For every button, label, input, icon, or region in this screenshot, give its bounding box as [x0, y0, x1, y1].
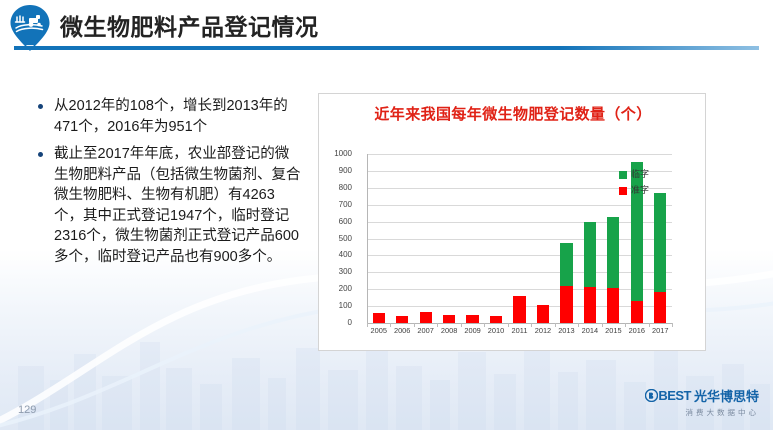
legend-item: 临字 [619, 170, 649, 179]
x-axis-tick: 2012 [531, 327, 554, 335]
x-axis-tick-mark [578, 323, 579, 327]
bar-column [584, 154, 596, 323]
x-axis-tick: 2013 [555, 327, 578, 335]
bar-segment-zhunzi [396, 316, 408, 323]
bar-segment-linzi [584, 222, 596, 287]
bar-column [607, 154, 619, 323]
bar-segment-zhunzi [584, 287, 596, 323]
chart-legend: 临字准字 [619, 170, 649, 202]
bar-segment-zhunzi [560, 286, 572, 323]
legend-swatch [619, 187, 627, 195]
header-rule-fade [560, 46, 759, 50]
bar-segment-zhunzi [654, 292, 666, 323]
x-axis-tick: 2010 [484, 327, 507, 335]
bar-column [490, 154, 502, 323]
bar-column [466, 154, 478, 323]
x-axis-tick: 2015 [602, 327, 625, 335]
bar-segment-zhunzi [490, 316, 502, 323]
bar-column [396, 154, 408, 323]
bar-column [537, 154, 549, 323]
x-axis-tick: 2017 [649, 327, 672, 335]
brand-name: 光华博思特 [694, 386, 759, 405]
x-axis-tick-mark [367, 323, 368, 327]
bar-segment-linzi [607, 217, 619, 288]
x-axis-tick: 2006 [390, 327, 413, 335]
bar-segment-zhunzi [373, 313, 385, 323]
y-axis-tick: 1000 [308, 150, 352, 158]
brand-mark-text: BEST [658, 388, 691, 403]
bar-column [513, 154, 525, 323]
bar-column [373, 154, 385, 323]
y-axis-tick: 200 [308, 285, 352, 293]
farm-pin-logo-icon [8, 4, 52, 52]
y-axis-tick: 800 [308, 184, 352, 192]
bullet-text: 截止至2017年年底，农业部登记的微生物肥料产品（包括微生物菌剂、复合微生物肥料… [54, 146, 301, 265]
page-number: 129 [18, 404, 36, 416]
page-title: 微生物肥料产品登记情况 [60, 8, 319, 42]
slide-canvas: 微生物肥料产品登记情况 从2012年的108个，增长到2013年的471个，20… [0, 0, 773, 430]
bar-column [443, 154, 455, 323]
bar-segment-linzi [560, 243, 572, 285]
y-axis-tick: 0 [308, 319, 352, 327]
brand-logo: BEST 光华博思特 消费大数据中心 [645, 386, 759, 418]
y-axis-tick: 700 [308, 201, 352, 209]
x-axis-tick-mark [461, 323, 462, 327]
x-axis-tick: 2011 [508, 327, 531, 335]
bar-segment-zhunzi [466, 315, 478, 323]
bar-column [560, 154, 572, 323]
y-axis-tick: 900 [308, 167, 352, 175]
y-axis-tick: 500 [308, 235, 352, 243]
bar-segment-zhunzi [537, 305, 549, 323]
y-axis-tick: 300 [308, 268, 352, 276]
x-axis-tick-mark [672, 323, 673, 327]
x-axis-tick: 2007 [414, 327, 437, 335]
x-axis-tick-mark [649, 323, 650, 327]
list-item: 从2012年的108个，增长到2013年的471个，2016年为951个 [34, 96, 302, 137]
legend-label: 准字 [631, 186, 649, 195]
x-axis-tick-mark [390, 323, 391, 327]
bar-segment-zhunzi [420, 312, 432, 323]
x-axis-tick-mark [531, 323, 532, 327]
bar-column [654, 154, 666, 323]
x-axis-tick-mark [625, 323, 626, 327]
x-axis-tick: 2014 [578, 327, 601, 335]
list-item: 截止至2017年年底，农业部登记的微生物肥料产品（包括微生物菌剂、复合微生物肥料… [34, 144, 302, 267]
bullet-dot-icon [38, 104, 43, 109]
y-axis-tick: 600 [308, 218, 352, 226]
bar-segment-zhunzi [513, 296, 525, 323]
x-axis-tick-mark [414, 323, 415, 327]
x-axis-tick: 2009 [461, 327, 484, 335]
legend-label: 临字 [631, 170, 649, 179]
y-axis-tick: 400 [308, 251, 352, 259]
bar-segment-zhunzi [607, 288, 619, 323]
x-axis-tick: 2005 [367, 327, 390, 335]
x-axis-tick: 2016 [625, 327, 648, 335]
chart-panel: 近年来我国每年微生物肥登记数量（个） 100090080070060050040… [318, 93, 706, 351]
bar-segment-zhunzi [631, 301, 643, 323]
x-axis-tick-mark [602, 323, 603, 327]
best-mark-icon [645, 389, 658, 402]
bullet-dot-icon [38, 152, 43, 157]
bar-column [420, 154, 432, 323]
x-axis-tick-mark [555, 323, 556, 327]
legend-item: 准字 [619, 186, 649, 195]
legend-swatch [619, 171, 627, 179]
x-axis-line [367, 323, 673, 324]
slide-header: 微生物肥料产品登记情况 [0, 0, 773, 52]
y-axis-tick: 100 [308, 302, 352, 310]
chart-title: 近年来我国每年微生物肥登记数量（个） [319, 103, 707, 124]
bullet-text: 从2012年的108个，增长到2013年的471个，2016年为951个 [54, 98, 288, 135]
x-axis-tick: 2008 [437, 327, 460, 335]
x-axis-tick-mark [437, 323, 438, 327]
brand-subtitle: 消费大数据中心 [645, 407, 759, 418]
bar-segment-zhunzi [443, 315, 455, 323]
x-axis-tick-mark [508, 323, 509, 327]
bullet-list: 从2012年的108个，增长到2013年的471个，2016年为951个 截止至… [34, 96, 302, 274]
x-axis-tick-mark [484, 323, 485, 327]
bar-segment-linzi [654, 193, 666, 292]
